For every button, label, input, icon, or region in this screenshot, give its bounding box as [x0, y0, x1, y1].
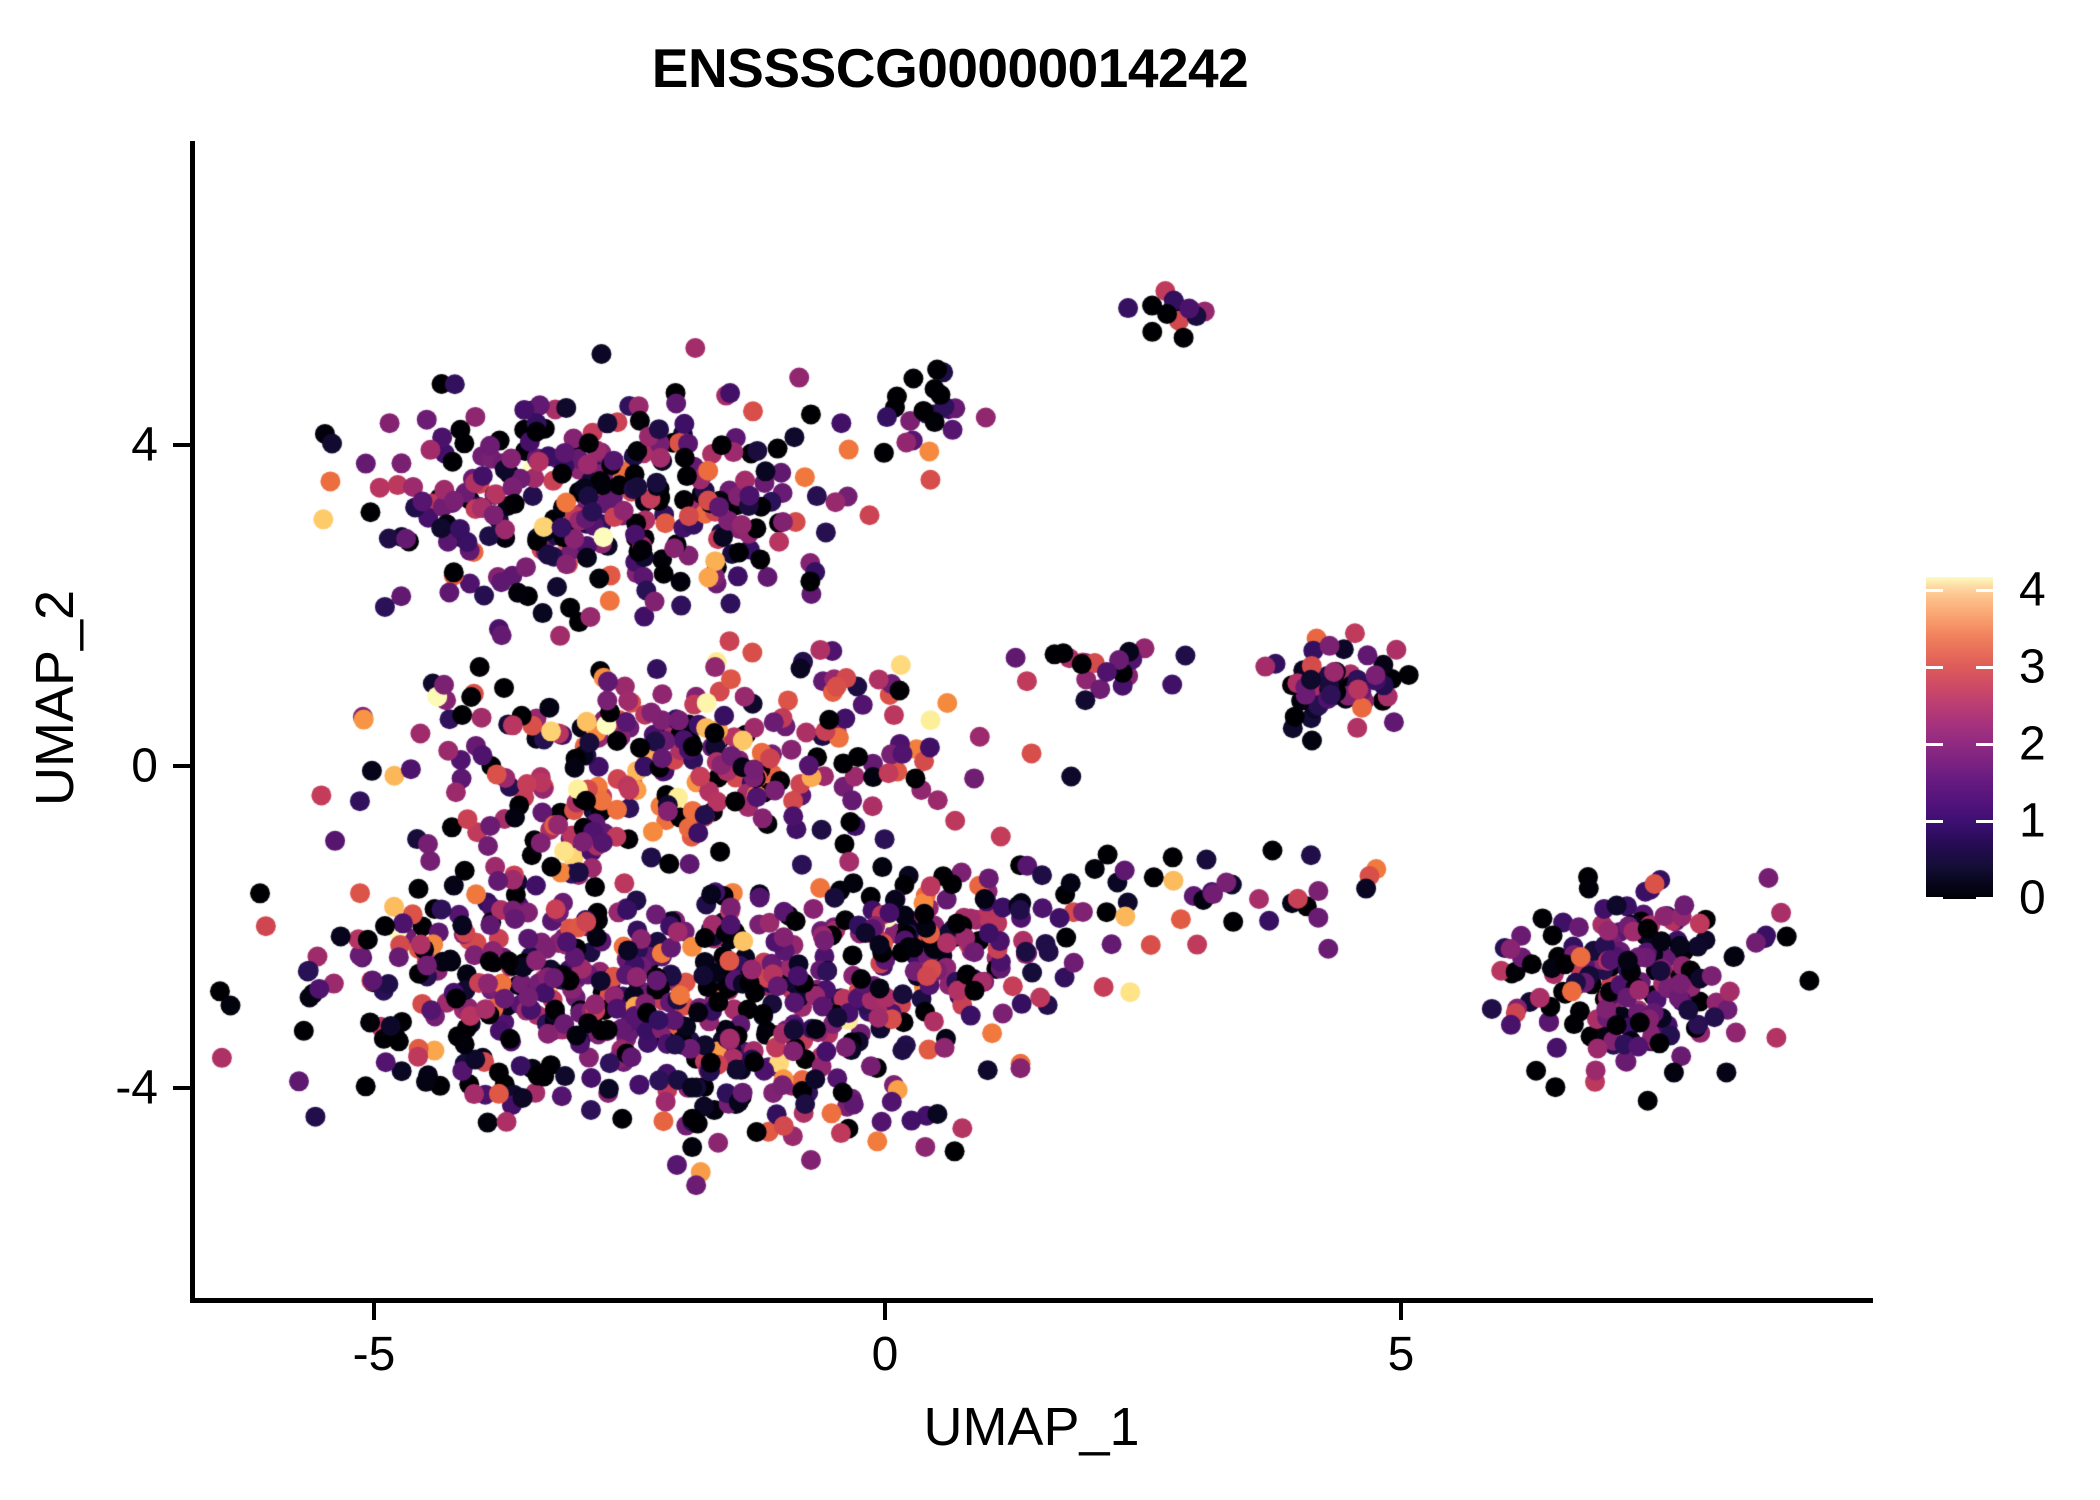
colorbar-tick-mark	[1926, 666, 1943, 669]
x-tick-label: 5	[1331, 1327, 1471, 1382]
colorbar-gradient	[1926, 577, 1993, 899]
x-tick-label: -5	[304, 1327, 444, 1382]
x-tick-mark	[372, 1303, 376, 1320]
colorbar-tick-label: 0	[2019, 871, 2046, 926]
y-tick-mark	[173, 1086, 190, 1090]
x-axis-line	[190, 1298, 1873, 1303]
colorbar-tick-mark	[1926, 897, 1943, 900]
colorbar-tick-mark	[1976, 820, 1993, 823]
x-axis-label: UMAP_1	[190, 1396, 1873, 1458]
x-tick-mark	[1399, 1303, 1403, 1320]
umap-feature-plot: ENSSSCG00000014242 40-4 -505 UMAP_1 UMAP…	[0, 0, 2100, 1500]
y-axis-line	[190, 141, 195, 1303]
scatter-points-layer	[0, 0, 2100, 1500]
colorbar-tick-mark	[1976, 589, 1993, 592]
y-tick-mark	[173, 764, 190, 768]
colorbar-tick-label: 4	[2019, 563, 2046, 618]
colorbar-tick-mark	[1926, 743, 1943, 746]
colorbar-tick-label: 1	[2019, 794, 2046, 849]
y-axis-label: UMAP_2	[24, 348, 86, 1048]
colorbar-tick-label: 3	[2019, 640, 2046, 695]
page-title: ENSSSCG00000014242	[0, 36, 1900, 100]
colorbar-tick-mark	[1926, 820, 1943, 823]
expression-colorbar	[1926, 577, 1993, 899]
x-tick-mark	[883, 1303, 887, 1320]
colorbar-tick-mark	[1926, 589, 1943, 592]
colorbar-tick-label: 2	[2019, 717, 2046, 772]
colorbar-tick-mark	[1976, 897, 1993, 900]
y-tick-label: -4	[38, 1061, 158, 1116]
x-tick-label: 0	[815, 1327, 955, 1382]
colorbar-tick-mark	[1976, 666, 1993, 669]
colorbar-tick-mark	[1976, 743, 1993, 746]
y-tick-mark	[173, 443, 190, 447]
